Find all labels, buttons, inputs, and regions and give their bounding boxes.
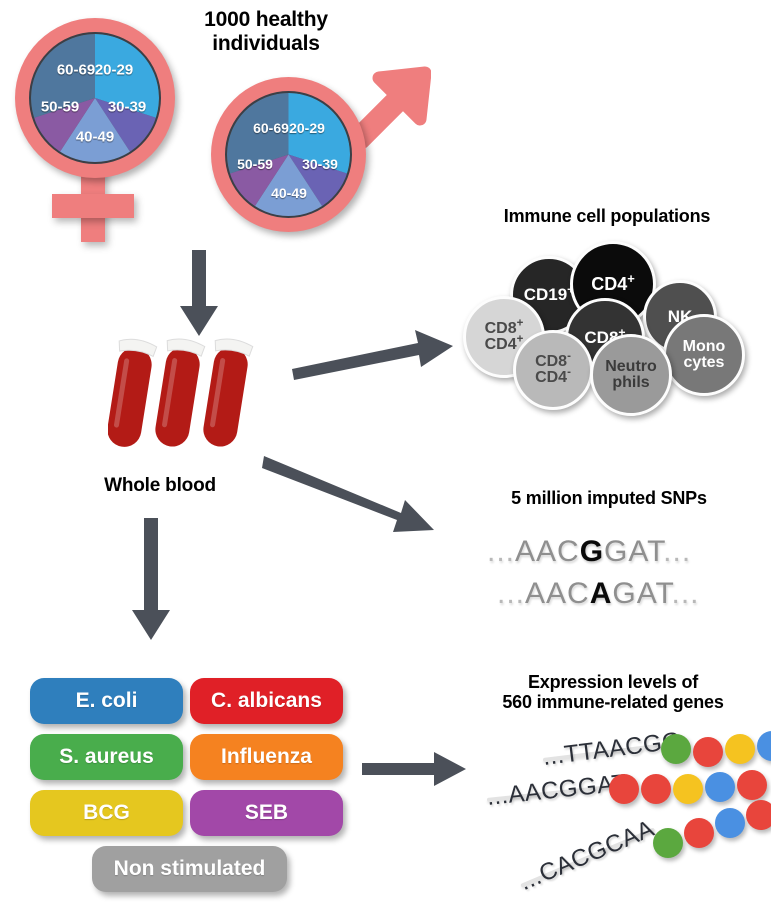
stimulus-e-coli[interactable]: E. coli [30, 678, 183, 724]
stimulus-seb-label: SEB [245, 801, 288, 825]
arrow-stimuli-to-expression [362, 752, 468, 788]
cell-monocytes-label: Monocytes [683, 339, 726, 372]
cell-monocytes: Monocytes [663, 314, 745, 396]
strand-3-bead-2 [684, 818, 714, 848]
arrow-cohort-to-blood [178, 250, 220, 338]
cell-cd4-label: CD4+ [591, 275, 635, 293]
stimulus-s-aureus-label: S. aureus [59, 745, 154, 769]
expression-title-line1: Expression levels of [455, 672, 771, 692]
snp-a-variant: A [590, 577, 613, 610]
arrow-blood-to-snps [262, 452, 442, 538]
stimulus-seb[interactable]: SEB [190, 790, 343, 836]
strand-3-bead-1 [653, 828, 683, 858]
blood-tube-2 [151, 337, 205, 450]
pie-slices [227, 93, 350, 216]
blood-tube-1 [108, 337, 157, 450]
stimulus-e-coli-label: E. coli [76, 689, 138, 713]
expression-strands: ...TTAACGG ...AACGGAT ...CACGCAA [455, 738, 771, 922]
strand-2-bead-1 [609, 774, 639, 804]
snp-sequences: ...AACGGAT... ...AACAGAT... [487, 535, 757, 625]
male-age-pie-svg [227, 93, 350, 216]
stimulus-bcg[interactable]: BCG [30, 790, 183, 836]
strand-3-bead-3 [715, 808, 745, 838]
snp-a-left: AAC [525, 577, 590, 610]
female-age-pie: 20-29 30-39 40-49 50-59 60-69 [29, 32, 161, 164]
blood-tube-3 [199, 337, 253, 450]
snp-g-variant: G [580, 535, 604, 568]
strand-3-sequence: ...CACGCAA [516, 815, 659, 897]
male-age-pie: 20-29 30-39 40-49 50-59 60-69 [225, 91, 352, 218]
cell-neutrophils: Neutrophils [590, 334, 672, 416]
female-symbol: 20-29 30-39 40-49 50-59 60-69 [8, 12, 198, 247]
strand-1-bead-1 [661, 734, 691, 764]
snp-g-left: AAC [515, 535, 580, 568]
stimulus-influenza-label: Influenza [221, 745, 312, 769]
cell-cd8-cd4-neg-label: CD8-CD4- [535, 354, 571, 387]
stimulus-influenza[interactable]: Influenza [190, 734, 343, 780]
snps-title: 5 million imputed SNPs [448, 488, 770, 508]
diagram-canvas: 1000 healthy individuals 20-29 30-39 40-… [0, 0, 771, 922]
expression-title-line2: 560 immune-related genes [455, 692, 771, 712]
male-symbol: 20-29 30-39 40-49 50-59 60-69 [205, 55, 420, 245]
stimulus-non-stimulated[interactable]: Non stimulated [92, 846, 287, 892]
immune-title: Immune cell populations [443, 206, 771, 226]
snp-a-suffix: ... [672, 577, 700, 610]
blood-tubes [108, 330, 268, 470]
pie-slices [31, 34, 159, 162]
snp-g-right: GAT [604, 535, 663, 568]
strand-2-bead-3 [673, 774, 703, 804]
arrow-blood-to-stimuli [130, 518, 172, 642]
female-symbol-cross [52, 194, 134, 218]
blood-tubes-svg [108, 330, 268, 470]
stimulus-bcg-label: BCG [83, 801, 130, 825]
cell-cd8-cd4-pos-label: CD8+CD4+ [485, 321, 524, 354]
strand-2-bead-5 [737, 770, 767, 800]
arrow-blood-to-immune [290, 322, 460, 384]
snp-allele-a: ...AACAGAT... [497, 577, 700, 611]
expression-title: Expression levels of 560 immune-related … [455, 672, 771, 712]
strand-3-bead-4 [746, 800, 771, 830]
stimulus-non-stimulated-label: Non stimulated [114, 857, 266, 881]
strand-2-bead-2 [641, 774, 671, 804]
cell-cd19-label: CD19+ [524, 286, 575, 303]
strand-2-bead-4 [705, 772, 735, 802]
cell-neutrophils-label: Neutrophils [605, 359, 657, 392]
snp-a-right: GAT [612, 577, 671, 610]
strand-1-bead-2 [693, 737, 723, 767]
snp-allele-g: ...AACGGAT... [487, 535, 691, 569]
stimulus-s-aureus[interactable]: S. aureus [30, 734, 183, 780]
male-arrow-shape [356, 73, 425, 142]
strand-2-sequence: ...AACGGAT [486, 769, 629, 812]
strand-1-bead-3 [725, 734, 755, 764]
snp-g-prefix: ... [487, 535, 515, 568]
snp-g-suffix: ... [663, 535, 691, 568]
snp-a-prefix: ... [497, 577, 525, 610]
whole-blood-label: Whole blood [60, 475, 260, 496]
strand-1-bead-4 [757, 731, 771, 761]
immune-cell-cluster: CD19+ CD4+ NK CD8+CD4+ CD8+ Monocytes CD… [455, 238, 771, 418]
stimuli-panel: E. coli C. albicans S. aureus Influenza … [30, 678, 350, 898]
stimulus-c-albicans-label: C. albicans [211, 689, 322, 713]
female-age-pie-svg [31, 34, 159, 162]
stimulus-c-albicans[interactable]: C. albicans [190, 678, 343, 724]
cell-cd8-cd4-neg: CD8-CD4- [513, 330, 593, 410]
